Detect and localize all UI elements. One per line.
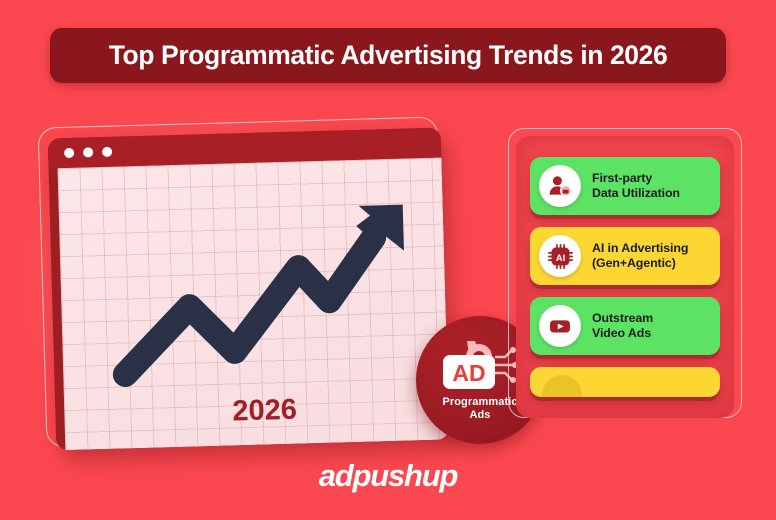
partial-card-icon	[542, 375, 582, 397]
browser-window-mock: 2026	[48, 128, 450, 451]
chart-year-label: 2026	[232, 394, 297, 429]
video-play-icon	[539, 305, 581, 347]
trend-card-ai-advertising[interactable]: AI AI in Advertising (Gen+Agentic)	[530, 227, 720, 285]
trend-card-line-1: First-party	[592, 171, 652, 185]
ad-text: AD	[452, 360, 485, 386]
trends-panel: First-party Data Utilization AI AI in Ad…	[516, 136, 734, 418]
trend-card-line-2: Data Utilization	[592, 186, 680, 200]
users-data-icon	[539, 165, 581, 207]
trend-card-line-2: Video Ads	[592, 326, 651, 340]
svg-text:AI: AI	[555, 253, 564, 264]
trend-card-label: Outstream Video Ads	[592, 311, 653, 341]
chart-canvas: 2026	[58, 158, 450, 451]
badge-caption-line-2: Ads	[469, 409, 490, 421]
trend-card-line-2: (Gen+Agentic)	[592, 256, 676, 270]
ai-chip-icon: AI	[539, 235, 581, 277]
window-dot-icon	[64, 148, 74, 158]
window-dot-icon	[83, 147, 93, 157]
trend-card-partial[interactable]	[530, 367, 720, 397]
trend-card-line-1: AI in Advertising	[592, 241, 688, 255]
window-dot-icon	[102, 147, 112, 157]
trend-card-line-1: Outstream	[592, 311, 653, 325]
page-title: Top Programmatic Advertising Trends in 2…	[109, 40, 668, 71]
page-title-banner: Top Programmatic Advertising Trends in 2…	[50, 28, 726, 83]
trend-card-first-party-data[interactable]: First-party Data Utilization	[530, 157, 720, 215]
badge-caption: Programmatic Ads	[442, 396, 517, 422]
trend-card-label: AI in Advertising (Gen+Agentic)	[592, 241, 688, 271]
trend-card-outstream-video[interactable]: Outstream Video Ads	[530, 297, 720, 355]
infographic-canvas: Top Programmatic Advertising Trends in 2…	[0, 0, 776, 520]
adpushup-logo: adpushup	[0, 458, 776, 494]
badge-caption-line-1: Programmatic	[442, 396, 517, 408]
trend-card-label: First-party Data Utilization	[592, 171, 680, 201]
